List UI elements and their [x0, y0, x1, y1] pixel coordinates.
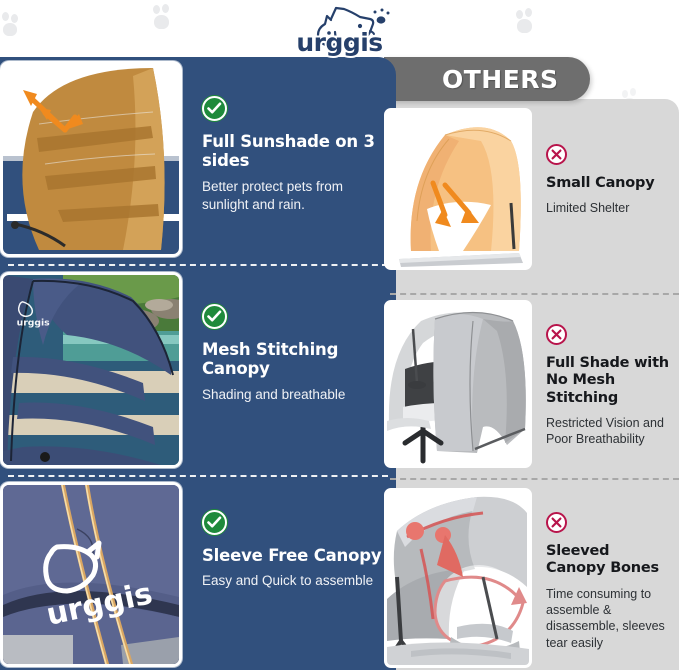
- others-text-1: Small Canopy Limited Shelter: [532, 108, 679, 270]
- paw-print-icon: [2, 12, 24, 38]
- ours-image-3: urggis: [0, 482, 182, 667]
- ours-title-2: Mesh Stitching Canopy: [202, 340, 386, 379]
- small-canopy-illustration: [387, 111, 529, 267]
- check-circle-icon: [202, 304, 227, 329]
- svg-text:urggis: urggis: [17, 317, 51, 328]
- x-circle-icon: [546, 512, 567, 533]
- others-image-3: [384, 488, 532, 668]
- ours-image-1: [0, 61, 182, 257]
- others-row-1: Small Canopy Limited Shelter: [384, 108, 679, 270]
- ours-divider-2: [8, 475, 388, 477]
- solid-gray-canopy-illustration: [387, 303, 529, 465]
- x-circle-icon: [546, 324, 567, 345]
- ours-text-3: Sleeve Free Canopy Easy and Quick to ass…: [182, 482, 396, 670]
- sleeve-free-canopy-illustration: urggis: [3, 485, 179, 664]
- others-title-2: Full Shade with No Mesh Stitching: [546, 355, 671, 407]
- ours-subtitle-3: Easy and Quick to assemble: [202, 572, 386, 590]
- ours-row-1: Full Sunshade on 3 sides Better protect …: [0, 61, 396, 257]
- ours-subtitle-2: Shading and breathable: [202, 386, 386, 404]
- others-text-3: Sleeved Canopy Bones Time consuming to a…: [532, 488, 679, 670]
- others-title-1: Small Canopy: [546, 175, 671, 192]
- others-divider-2: [390, 478, 679, 480]
- others-label: OTHERS: [442, 65, 559, 94]
- ours-text-1: Full Sunshade on 3 sides Better protect …: [182, 61, 396, 257]
- others-subtitle-2: Restricted Vision and Poor Breathability: [546, 415, 671, 448]
- ours-row-3: urggis Sleeve Free Canopy Easy and Quick…: [0, 482, 396, 670]
- others-row-2: Full Shade with No Mesh Stitching Restri…: [384, 300, 679, 468]
- sleeved-canopy-bones-illustration: [387, 491, 529, 665]
- paw-print-icon: [344, 12, 368, 40]
- others-text-2: Full Shade with No Mesh Stitching Restri…: [532, 300, 679, 468]
- dog-heads-icon: [274, 2, 406, 50]
- x-circle-icon: [546, 144, 567, 165]
- ours-subtitle-1: Better protect pets from sunlight and ra…: [202, 178, 386, 214]
- brand-logo-text: urggis: [274, 28, 406, 57]
- paw-print-icon: [516, 8, 540, 36]
- others-subtitle-3: Time consuming to assemble & disassemble…: [546, 586, 671, 651]
- brand-logo: urggis: [0, 2, 679, 64]
- others-image-1: [384, 108, 532, 270]
- check-circle-icon: [202, 96, 227, 121]
- others-image-2: [384, 300, 532, 468]
- others-title-3: Sleeved Canopy Bones: [546, 543, 671, 578]
- ours-divider-1: [8, 264, 388, 266]
- paw-print-icon: [152, 4, 176, 32]
- ours-title-3: Sleeve Free Canopy: [202, 546, 386, 565]
- others-row-3: Sleeved Canopy Bones Time consuming to a…: [384, 488, 679, 670]
- tan-canopy-illustration: [3, 64, 179, 254]
- others-subtitle-1: Limited Shelter: [546, 200, 671, 216]
- comparison-infographic: OTHERS: [0, 0, 679, 670]
- others-header-tab: OTHERS: [384, 57, 590, 101]
- ours-image-2: urggis: [0, 272, 182, 468]
- ours-text-2: Mesh Stitching Canopy Shading and breath…: [182, 272, 396, 468]
- ours-title-1: Full Sunshade on 3 sides: [202, 132, 386, 171]
- check-circle-icon: [202, 510, 227, 535]
- ours-row-2: urggis Mesh Stitching Canopy Shading and…: [0, 272, 396, 468]
- mesh-canopy-illustration: urggis: [3, 275, 179, 465]
- others-divider-1: [390, 293, 679, 295]
